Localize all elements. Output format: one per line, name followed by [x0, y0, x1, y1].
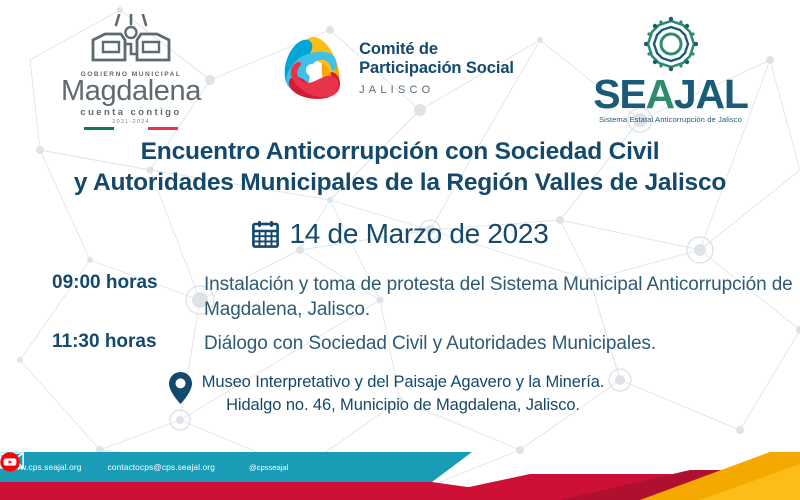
cps-state-label: JALISCO: [359, 84, 514, 97]
event-date: 14 de Marzo de 2023: [0, 218, 800, 250]
location-pin-icon: [168, 371, 193, 405]
logo-seajal: SEAJAL Sistema Estatal Anticorrupción de…: [583, 16, 758, 124]
logo-comite-participacion-social: Comité de Participación Social JALISCO: [279, 32, 514, 104]
seajal-word-part1: SE: [593, 71, 645, 117]
schedule-description: Diálogo con Sociedad Civil y Autoridades…: [204, 331, 656, 356]
footer-email[interactable]: contactocps@cps.seajal.org: [107, 462, 214, 472]
venue-line2: Hidalgo no. 46, Municipio de Magdalena, …: [202, 394, 605, 417]
schedule-item: 09:00 horas Instalación y toma de protes…: [52, 272, 800, 323]
seajal-subtitle: Sistema Estatal Anticorrupción de Jalisc…: [583, 115, 758, 124]
magdalena-tagline: cuenta contigo: [52, 107, 210, 118]
footer-social-links: @cpsseajal: [245, 463, 288, 472]
venue-line1: Museo Interpretativo y del Paisaje Agave…: [202, 371, 605, 394]
schedule-description: Instalación y toma de protesta del Siste…: [204, 272, 800, 323]
seajal-wordmark: SEAJAL: [583, 75, 758, 114]
logo-header: GOBIERNO MUNICIPAL Magdalena cuenta cont…: [0, 0, 800, 130]
cps-swirl-icon: [279, 32, 345, 104]
schedule-item: 11:30 horas Diálogo con Sociedad Civil y…: [52, 331, 800, 356]
event-date-text: 14 de Marzo de 2023: [290, 218, 549, 250]
cps-line1: Comité de: [359, 40, 514, 59]
magdalena-emblem-icon: [87, 14, 175, 70]
youtube-icon[interactable]: [0, 452, 20, 472]
flyer-page: GOBIERNO MUNICIPAL Magdalena cuenta cont…: [0, 0, 800, 500]
schedule-time: 09:00 horas: [52, 272, 204, 294]
footer-email-text: contactocps@cps.seajal.org: [107, 462, 214, 472]
mexican-flag-bar: [52, 127, 210, 130]
magdalena-years: 2021-2024: [52, 119, 210, 125]
event-title: Encuentro Anticorrupción con Sociedad Ci…: [0, 136, 800, 199]
calendar-icon: [252, 220, 279, 248]
event-title-line1: Encuentro Anticorrupción con Sociedad Ci…: [0, 136, 800, 167]
venue-block: Museo Interpretativo y del Paisaje Agave…: [0, 371, 800, 418]
cps-line2: Participación Social: [359, 59, 514, 78]
seajal-word-part3: JAL: [674, 71, 748, 117]
logo-magdalena: GOBIERNO MUNICIPAL Magdalena cuenta cont…: [52, 14, 210, 130]
footer-social-handle: @cpsseajal: [249, 463, 288, 472]
seajal-word-part2: A: [646, 71, 674, 117]
schedule-list: 09:00 horas Instalación y toma de protes…: [52, 272, 800, 357]
footer-bar: www.cps.seajal.org contactocps@cps.seaja…: [0, 452, 800, 500]
event-title-line2: y Autoridades Municipales de la Región V…: [0, 167, 800, 198]
schedule-time: 11:30 horas: [52, 331, 204, 353]
seajal-octagon-icon: [643, 16, 699, 72]
magdalena-name: Magdalena: [52, 77, 210, 105]
